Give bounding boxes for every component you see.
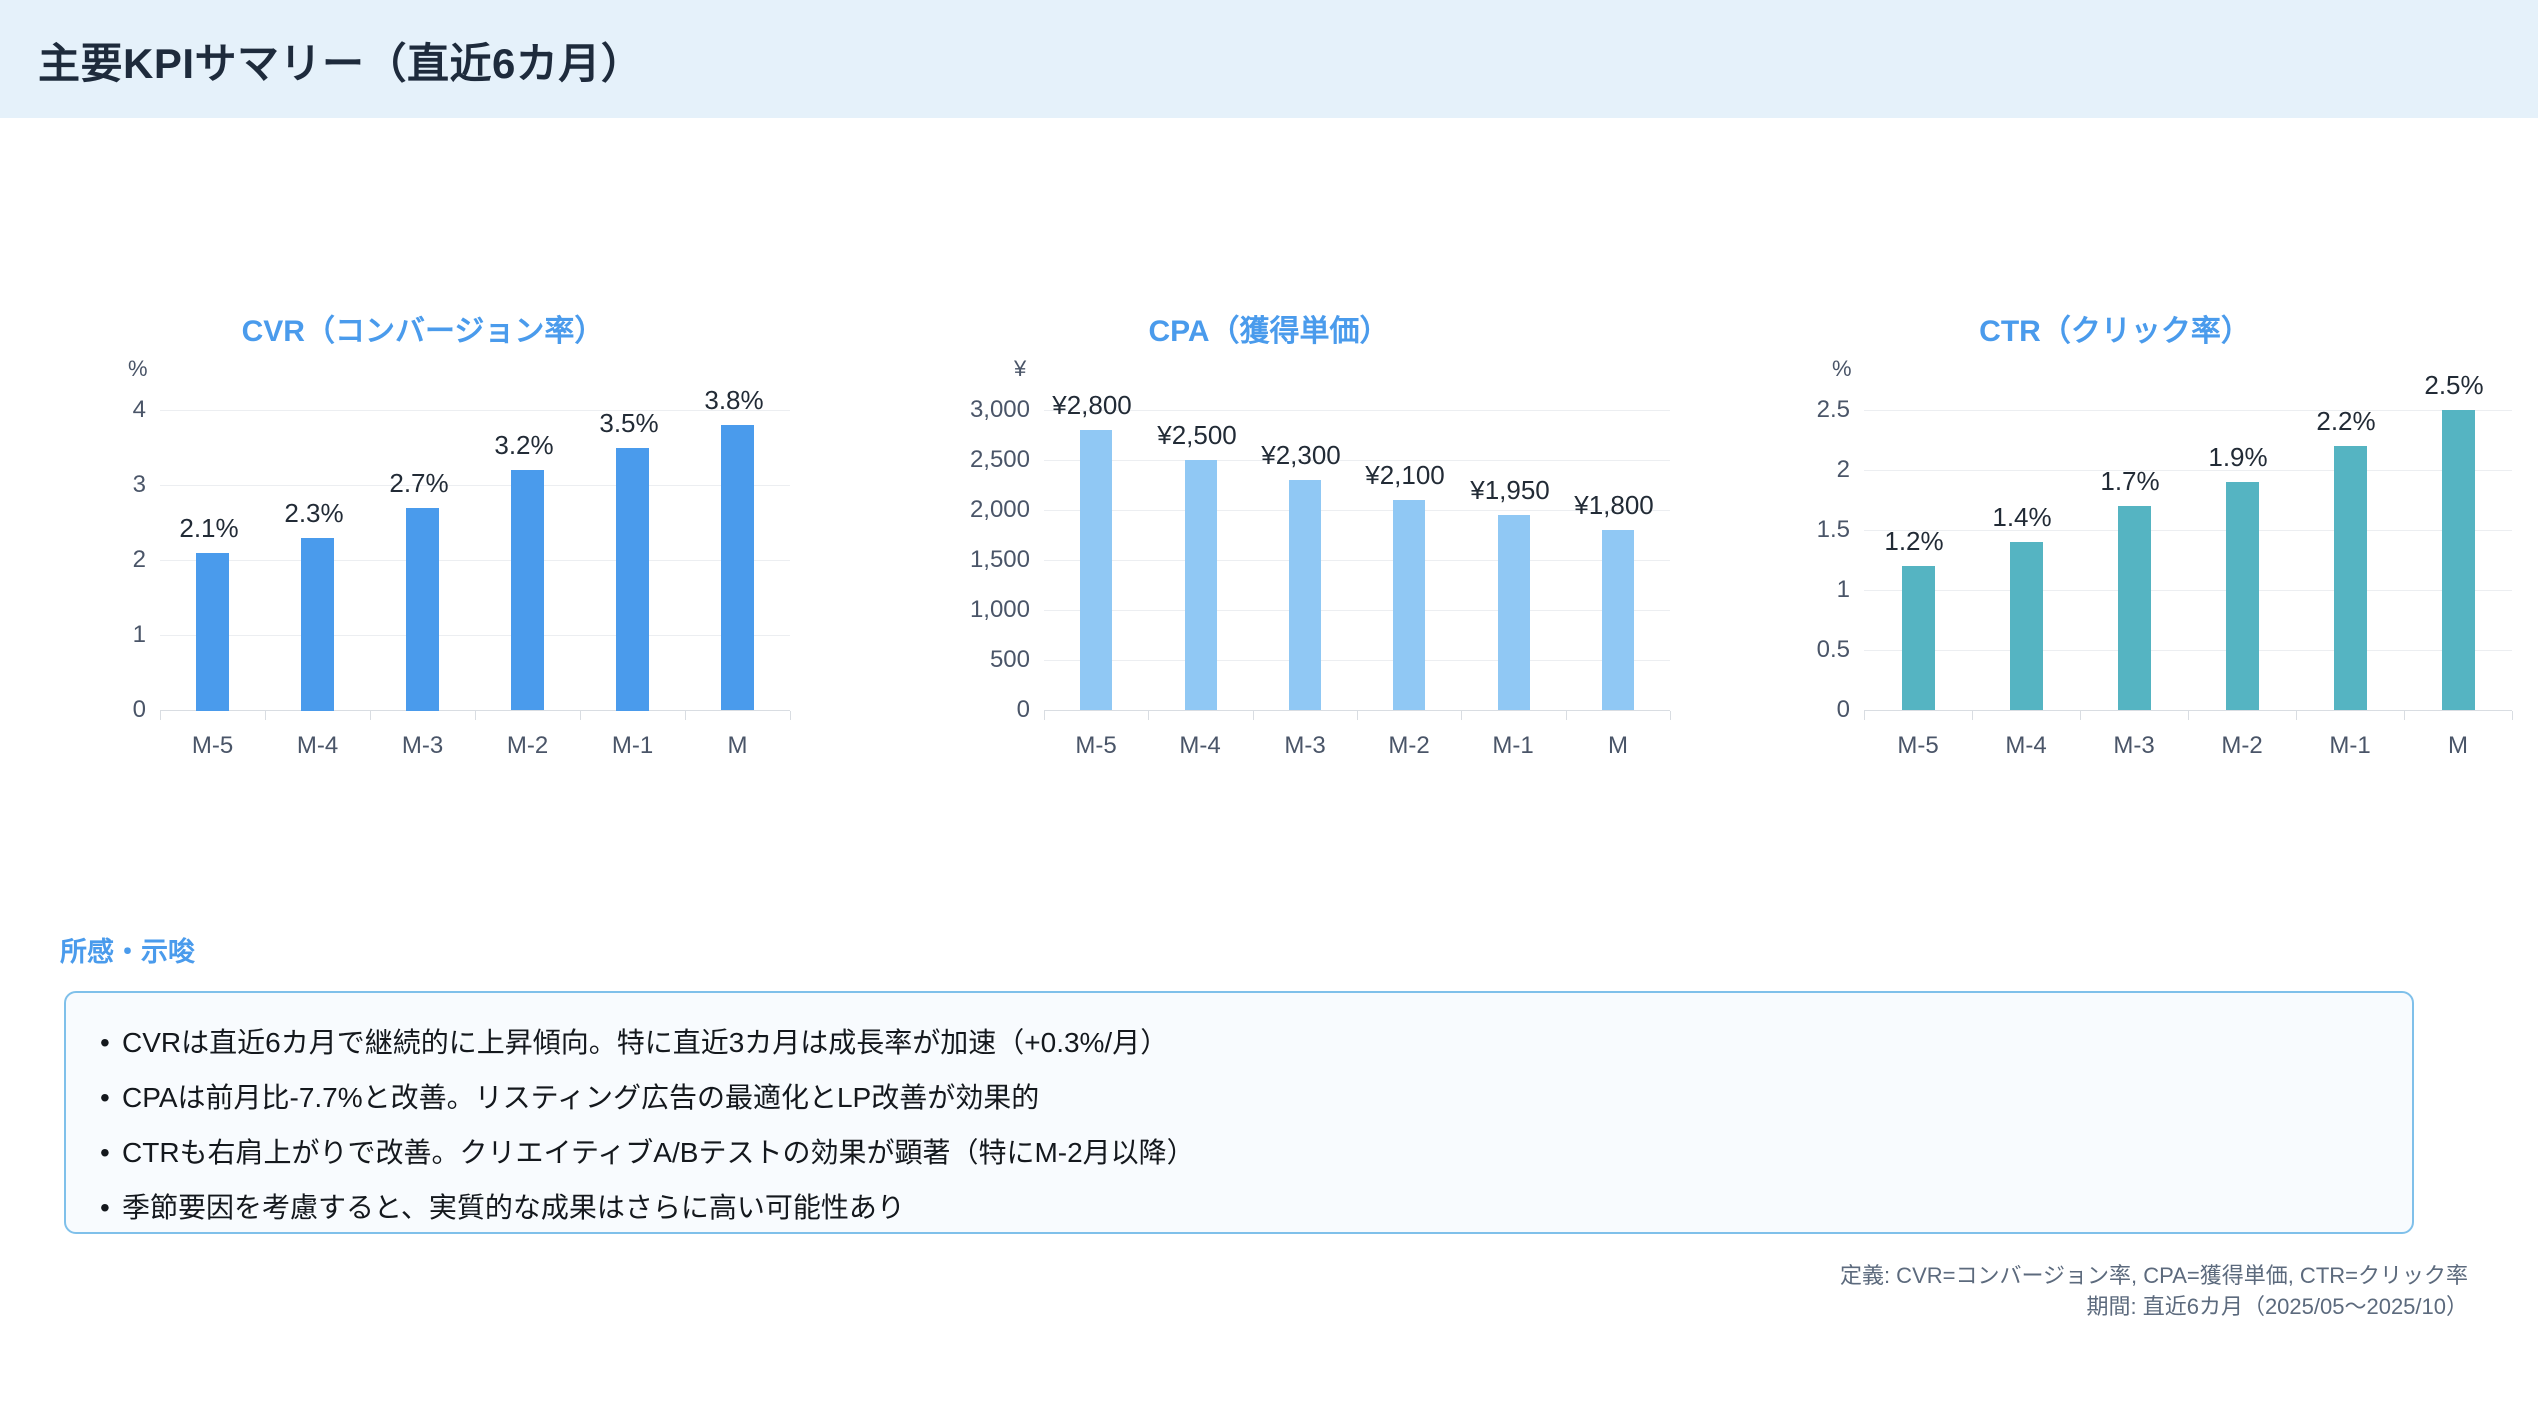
bar-value-label: 2.5% [2424,370,2483,401]
x-axis-category-label: M [685,732,790,760]
x-axis-category-label: M-2 [1357,732,1461,760]
x-axis-tickmark [160,711,161,720]
insight-text: 季節要因を考慮すると、実質的な成果はさらに高い可能性あり [122,1192,905,1223]
x-axis-tickmark [475,711,476,720]
bar-value-label: ¥1,800 [1574,490,1654,521]
y-axis-unit: % [128,356,148,382]
gridline [160,485,790,486]
bar [721,425,754,710]
bar [2334,446,2367,710]
footer-notes: 定義: CVR=コンバージョン率, CPA=獲得単価, CTR=クリック率 期間… [1840,1260,2468,1322]
y-axis-tick-label: 2.5 [1780,396,1850,424]
insight-item: •CTRも右肩上がりで改善。クリエイティブA/Bテストの効果が顕著（特にM-2月… [100,1125,2378,1180]
bar-value-label: 1.2% [1884,526,1943,557]
x-axis-category-label: M-1 [580,732,685,760]
bar-value-label: ¥2,500 [1157,420,1237,451]
insight-text: CVRは直近6カ月で継続的に上昇傾向。特に直近3カ月は成長率が加速（+0.3%/… [122,1027,1168,1058]
bar-value-label: 3.8% [704,385,763,416]
y-axis-tick-label: 1,500 [920,546,1030,574]
x-axis-tickmark [1864,711,1865,720]
bar [2442,410,2475,710]
chart-title-cpa: CPA（獲得単価） [846,306,1692,350]
footer-period: 期間: 直近6カ月（2025/05〜2025/10） [1840,1291,2468,1322]
bullet-icon: • [100,1139,122,1167]
chart-title-ctr: CTR（クリック率） [1692,306,2538,350]
x-axis-tickmark [1357,711,1358,720]
y-axis-tick-label: 0 [920,696,1030,724]
gridline [1044,460,1670,461]
x-axis-tickmark [1148,711,1149,720]
bar-value-label: 3.2% [494,430,553,461]
bar [1185,460,1217,710]
y-axis-tick-label: 1 [100,621,146,649]
y-axis-tick-label: 1,000 [920,596,1030,624]
y-axis-tick-label: 0 [100,696,146,724]
bar-value-label: 2.2% [2316,406,2375,437]
y-axis-unit: % [1832,356,1852,382]
bar [1393,500,1425,710]
x-axis-category-label: M-4 [1972,732,2080,760]
insights-heading: 所感・示唆 [60,930,195,969]
bar [406,508,439,711]
gridline [1864,590,2512,591]
y-axis-tick-label: 3,000 [920,396,1030,424]
bar [301,538,334,711]
bar [2226,482,2259,710]
x-axis-tickmark [1044,711,1045,720]
x-axis-category-label: M-4 [1148,732,1252,760]
x-axis-category-label: M [2404,732,2512,760]
bar [2118,506,2151,710]
y-axis-tick-label: 2 [1780,456,1850,484]
x-axis-category-label: M-5 [160,732,265,760]
y-axis-tick-label: 0 [1780,696,1850,724]
bar [196,553,229,711]
x-axis-category-label: M-3 [370,732,475,760]
x-axis-category-label: M-1 [2296,732,2404,760]
bar [1602,530,1634,710]
y-axis-tick-label: 0.5 [1780,636,1850,664]
bar [616,448,649,711]
gridline [160,635,790,636]
x-axis-category-label: M-3 [1253,732,1357,760]
gridline [1044,660,1670,661]
gridline [160,560,790,561]
x-axis-tickmark [2404,711,2405,720]
y-axis-unit: ¥ [1014,356,1026,382]
y-axis-tick-label: 2,500 [920,446,1030,474]
x-axis-category-label: M-5 [1864,732,1972,760]
bar [1080,430,1112,710]
x-axis-tickmark [265,711,266,720]
x-axis-tickmark [1972,711,1973,720]
x-axis-category-label: M-4 [265,732,370,760]
x-axis-category-label: M-5 [1044,732,1148,760]
y-axis-tick-label: 2,000 [920,496,1030,524]
x-axis-tickmark [685,711,686,720]
bar [511,470,544,710]
bar [1289,480,1321,710]
x-axis-tickmark [2296,711,2297,720]
bullet-icon: • [100,1194,122,1222]
bar-value-label: 2.1% [179,513,238,544]
gridline [1044,560,1670,561]
bar-value-label: ¥2,800 [1052,390,1132,421]
insight-text: CPAは前月比-7.7%と改善。リスティング広告の最適化とLP改善が効果的 [122,1082,1039,1113]
gridline [1044,610,1670,611]
x-axis-tickmark [370,711,371,720]
gridline [1864,410,2512,411]
y-axis-tick-label: 500 [920,646,1030,674]
chart-panel-cvr: CVR（コンバージョン率） %012342.1%M-52.3%M-42.7%M-… [0,280,846,790]
gridline [1864,650,2512,651]
page-title: 主要KPIサマリー（直近6カ月） [38,30,643,91]
x-axis-category-label: M-2 [475,732,580,760]
x-axis-tickmark [790,711,791,720]
bar [2010,542,2043,710]
insight-item: •CVRは直近6カ月で継続的に上昇傾向。特に直近3カ月は成長率が加速（+0.3%… [100,1015,2378,1070]
y-axis-tick-label: 4 [100,396,146,424]
insight-item: •季節要因を考慮すると、実質的な成果はさらに高い可能性あり [100,1180,2378,1235]
bar-value-label: 2.7% [389,468,448,499]
bar-value-label: ¥2,300 [1261,440,1341,471]
y-axis-tick-label: 2 [100,546,146,574]
gridline [160,410,790,411]
bar [1902,566,1935,710]
x-axis-category-label: M-1 [1461,732,1565,760]
bullet-icon: • [100,1029,122,1057]
x-axis-category-label: M [1566,732,1670,760]
x-axis-tickmark [2188,711,2189,720]
gridline [1864,530,2512,531]
x-axis-tickmark [2512,711,2513,720]
x-axis-category-label: M-2 [2188,732,2296,760]
x-axis-category-label: M-3 [2080,732,2188,760]
x-axis-tickmark [1461,711,1462,720]
x-axis-tickmark [1670,711,1671,720]
gridline [1044,410,1670,411]
bar-value-label: ¥1,950 [1470,475,1550,506]
charts-row: CVR（コンバージョン率） %012342.1%M-52.3%M-42.7%M-… [0,280,2538,790]
bar-value-label: 1.9% [2208,442,2267,473]
x-axis-tickmark [1253,711,1254,720]
chart-title-cvr: CVR（コンバージョン率） [0,306,846,350]
x-axis-tickmark [1566,711,1567,720]
insight-text: CTRも右肩上がりで改善。クリエイティブA/Bテストの効果が顕著（特にM-2月以… [122,1137,1195,1168]
bar-value-label: 1.4% [1992,502,2051,533]
insight-item: •CPAは前月比-7.7%と改善。リスティング広告の最適化とLP改善が効果的 [100,1070,2378,1125]
bar-value-label: 3.5% [599,408,658,439]
chart-panel-cpa: CPA（獲得単価） ¥05001,0001,5002,0002,5003,000… [846,280,1692,790]
bar-value-label: ¥2,100 [1365,460,1445,491]
bar-value-label: 1.7% [2100,466,2159,497]
bar-value-label: 2.3% [284,498,343,529]
gridline [1864,470,2512,471]
bullet-icon: • [100,1084,122,1112]
bar [1498,515,1530,710]
y-axis-tick-label: 1 [1780,576,1850,604]
chart-panel-ctr: CTR（クリック率） %00.511.522.51.2%M-51.4%M-41.… [1692,280,2538,790]
y-axis-tick-label: 3 [100,471,146,499]
y-axis-tick-label: 1.5 [1780,516,1850,544]
x-axis-tickmark [2080,711,2081,720]
footer-definition: 定義: CVR=コンバージョン率, CPA=獲得単価, CTR=クリック率 [1840,1260,2468,1291]
insights-box: •CVRは直近6カ月で継続的に上昇傾向。特に直近3カ月は成長率が加速（+0.3%… [64,991,2414,1234]
x-axis-tickmark [580,711,581,720]
